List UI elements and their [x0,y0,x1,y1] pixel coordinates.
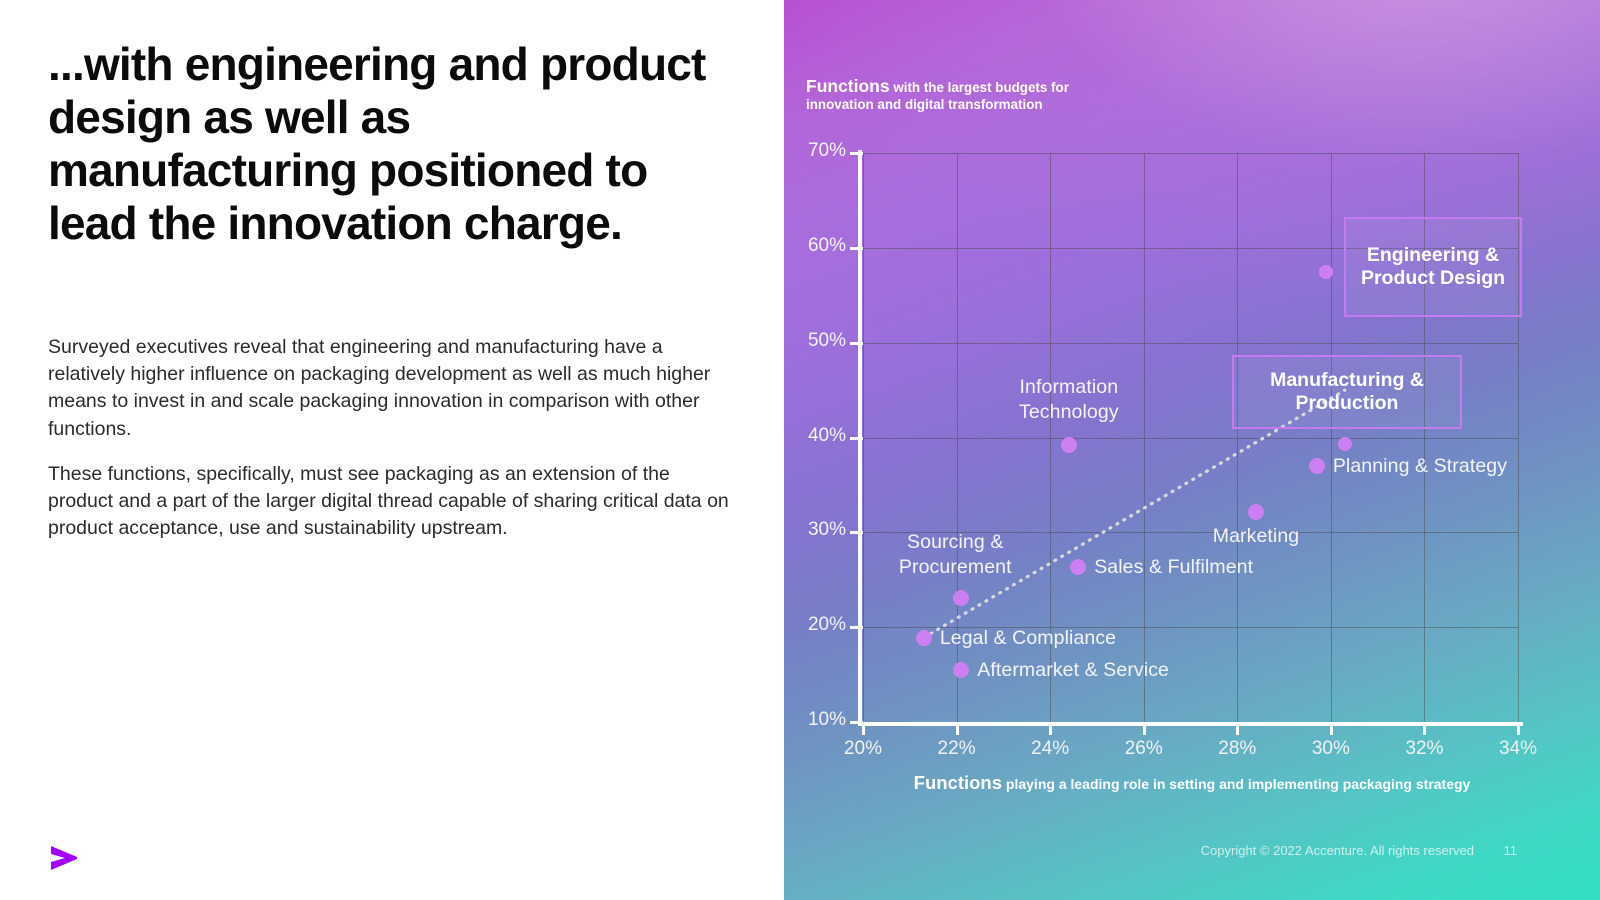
x-axis-tick-label: 32% [1405,738,1443,760]
x-axis-tick-label: 28% [1218,738,1256,760]
data-point-label: Marketing [1213,524,1300,549]
data-point-label: Sales & Fulfilment [1094,555,1253,580]
paragraph-1: Surveyed executives reveal that engineer… [48,334,738,443]
x-axis-tick-label: 26% [1125,738,1163,760]
callout-label: Manufacturing & Production [1270,369,1424,415]
data-point [1248,504,1264,520]
x-axis-caption: Functions playing a leading role in sett… [784,772,1600,794]
data-point [1309,458,1325,474]
y-axis-tick [850,342,863,345]
data-point [1319,265,1333,279]
x-axis-tick-label: 30% [1312,738,1350,760]
y-axis-tick [850,531,863,534]
data-point [953,590,969,606]
paragraph-2: These functions, specifically, must see … [48,461,738,543]
page-title: ...with engineering and product design a… [48,38,708,250]
x-axis-tick [1236,723,1239,735]
trendline [784,0,1600,900]
x-axis-tick-label: 22% [938,738,976,760]
y-axis-tick [850,152,863,155]
data-point-label: Planning & Strategy [1333,454,1507,479]
data-point [916,630,932,646]
chart-panel: Functions with the largest budgets for i… [784,0,1600,900]
data-point-label: Sourcing & Procurement [899,530,1012,580]
data-point-label: Information Technology [1019,375,1119,425]
x-axis-tick [862,723,865,735]
left-text-panel: ...with engineering and product design a… [0,0,784,900]
x-axis-caption-lead: Functions [914,772,1002,793]
x-axis-tick [1517,723,1520,735]
x-axis-tick [1049,723,1052,735]
x-axis-tick-label: 34% [1499,738,1537,760]
x-axis-caption-rest: playing a leading role in setting and im… [1002,776,1470,792]
data-point-label: Aftermarket & Service [977,658,1169,683]
callout-box: Manufacturing & Production [1232,355,1462,429]
data-point [953,662,969,678]
y-axis-tick [850,437,863,440]
y-axis-tick [850,247,863,250]
data-point [1061,437,1077,453]
callout-label: Engineering & Product Design [1361,244,1505,290]
x-axis-tick [1423,723,1426,735]
data-point [1338,437,1352,451]
copyright-text: Copyright © 2022 Accenture. All rights r… [1201,843,1474,858]
y-axis-tick [850,626,863,629]
x-axis-tick [956,723,959,735]
x-axis-tick [1330,723,1333,735]
x-axis-tick [1143,723,1146,735]
accenture-logo-icon [47,843,81,873]
page-number: 11 [1504,843,1518,858]
data-point-label: Legal & Compliance [940,626,1116,651]
callout-box: Engineering & Product Design [1344,217,1522,317]
data-point [1070,559,1086,575]
x-axis-tick-label: 24% [1031,738,1069,760]
x-axis-tick-label: 20% [844,738,882,760]
body-copy: Surveyed executives reveal that engineer… [48,334,738,560]
